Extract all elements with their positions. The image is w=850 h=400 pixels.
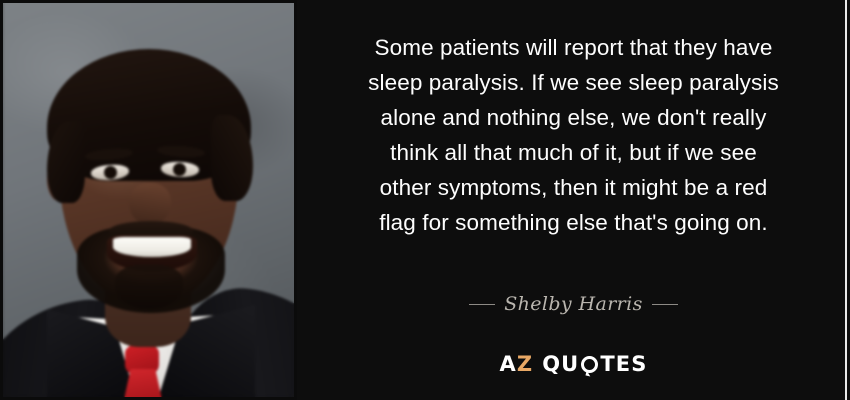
logo-letter-z: Z [517, 352, 533, 376]
attribution-dash-right [652, 304, 678, 305]
quote-line: Some patients will report that they have [315, 30, 832, 65]
quote-line: flag for something else that's going on. [315, 205, 832, 240]
logo-text-tes: TES [600, 352, 647, 376]
right-edge-strip [845, 0, 847, 400]
logo-letter-a: A [500, 352, 517, 376]
attribution-author-name[interactable]: Shelby Harris [504, 293, 643, 315]
quote-panel: Some patients will report that they have… [297, 0, 850, 400]
portrait-panel [0, 0, 297, 400]
az-quotes-logo[interactable]: AZQUTES [297, 352, 850, 376]
attribution: Shelby Harris [315, 292, 832, 315]
quote-line: think all that much of it, but if we see [315, 135, 832, 170]
chin-beard [115, 265, 183, 309]
teeth [113, 237, 191, 257]
pupil-right [173, 163, 186, 176]
quote-line: other symptoms, then it might be a red [315, 170, 832, 205]
logo-text-qu: QU [542, 352, 579, 376]
portrait-photo [3, 3, 294, 397]
quote-line: sleep paralysis. If we see sleep paralys… [315, 65, 832, 100]
nose [129, 183, 171, 225]
speech-bubble-icon [581, 356, 598, 373]
quote-text: Some patients will report that they have… [315, 30, 832, 240]
quote-card: Some patients will report that they have… [0, 0, 850, 400]
quote-line: alone and nothing else, we don't really [315, 100, 832, 135]
attribution-dash-left [469, 304, 495, 305]
pupil-left [104, 166, 117, 179]
